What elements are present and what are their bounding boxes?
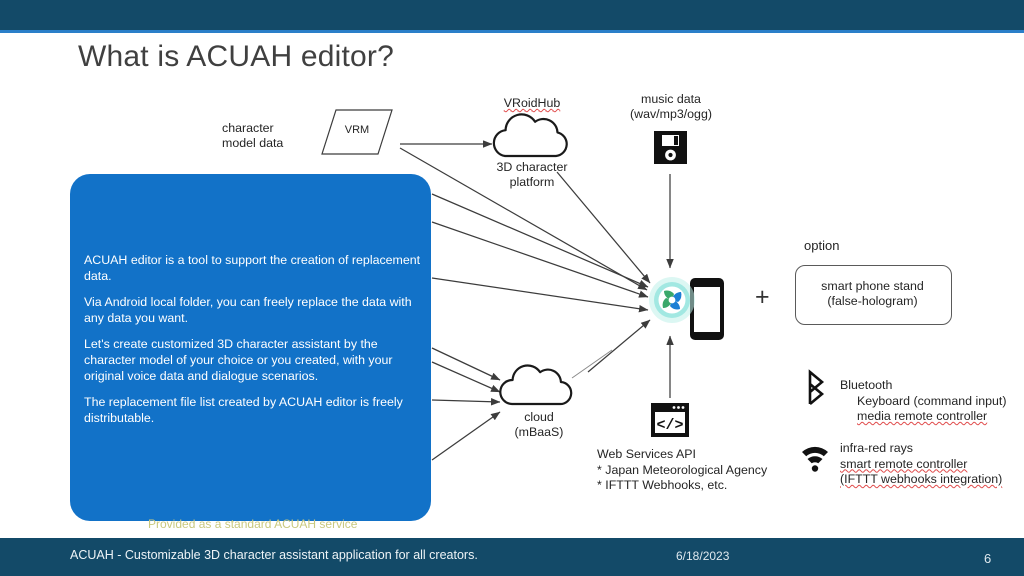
web-services-item-0: * Japan Meteorological Agency: [597, 463, 767, 477]
option-label: option: [804, 238, 839, 253]
infrared-line-0: smart remote controller: [840, 457, 967, 471]
infrared-block: infra-red rays smart remote controller (…: [840, 441, 1002, 488]
smartphone-icon: [690, 278, 724, 340]
cloud-mbaas-label: cloud (mBaaS): [490, 410, 588, 440]
acuah-logo-icon: [649, 277, 695, 323]
smart-phone-stand-label: smart phone stand (false-hologram): [795, 279, 950, 309]
vroidhub-sublabel: 3D character platform: [480, 160, 584, 190]
web-services-api-title: Web Services API: [597, 447, 696, 461]
vroidhub-label: VRoidHub: [497, 96, 567, 111]
description-panel-text: ACUAH editor is a tool to support the cr…: [84, 253, 422, 437]
web-services-api-block: Web Services API * Japan Meteorological …: [597, 447, 767, 494]
vrm-shape-label: VRM: [322, 124, 392, 136]
character-model-data-label: character model data: [222, 121, 314, 151]
code-window-icon: </>: [651, 403, 689, 437]
infrared-line-1: (IFTTT webhooks integration): [840, 472, 1002, 486]
bluetooth-line-0: Keyboard (command input): [840, 394, 1006, 410]
description-paragraph-3: The replacement file list created by ACU…: [84, 395, 422, 426]
description-paragraph-0: ACUAH editor is a tool to support the cr…: [84, 253, 422, 284]
plus-symbol: +: [755, 283, 770, 312]
svg-text:</>: </>: [656, 417, 683, 434]
bluetooth-line-1: media remote controller: [840, 409, 1006, 425]
infrared-title: infra-red rays: [840, 441, 913, 455]
music-data-label: music data (wav/mp3/ogg): [610, 92, 732, 122]
bluetooth-block: Bluetooth Keyboard (command input) media…: [840, 378, 1006, 425]
floppy-disk-icon: [654, 131, 687, 164]
wifi-icon: [802, 447, 828, 472]
bluetooth-icon: [810, 372, 822, 404]
web-services-item-1: * IFTTT Webhooks, etc.: [597, 478, 727, 492]
bluetooth-title: Bluetooth: [840, 378, 892, 392]
description-paragraph-2: Let's create customized 3D character ass…: [84, 337, 422, 384]
standard-service-caption: Provided as a standard ACUAH service: [148, 517, 357, 531]
description-paragraph-1: Via Android local folder, you can freely…: [84, 295, 422, 326]
footer-date: 6/18/2023: [676, 549, 729, 563]
footer-page-number: 6: [984, 551, 991, 566]
footer-tagline: ACUAH - Customizable 3D character assist…: [70, 548, 478, 562]
